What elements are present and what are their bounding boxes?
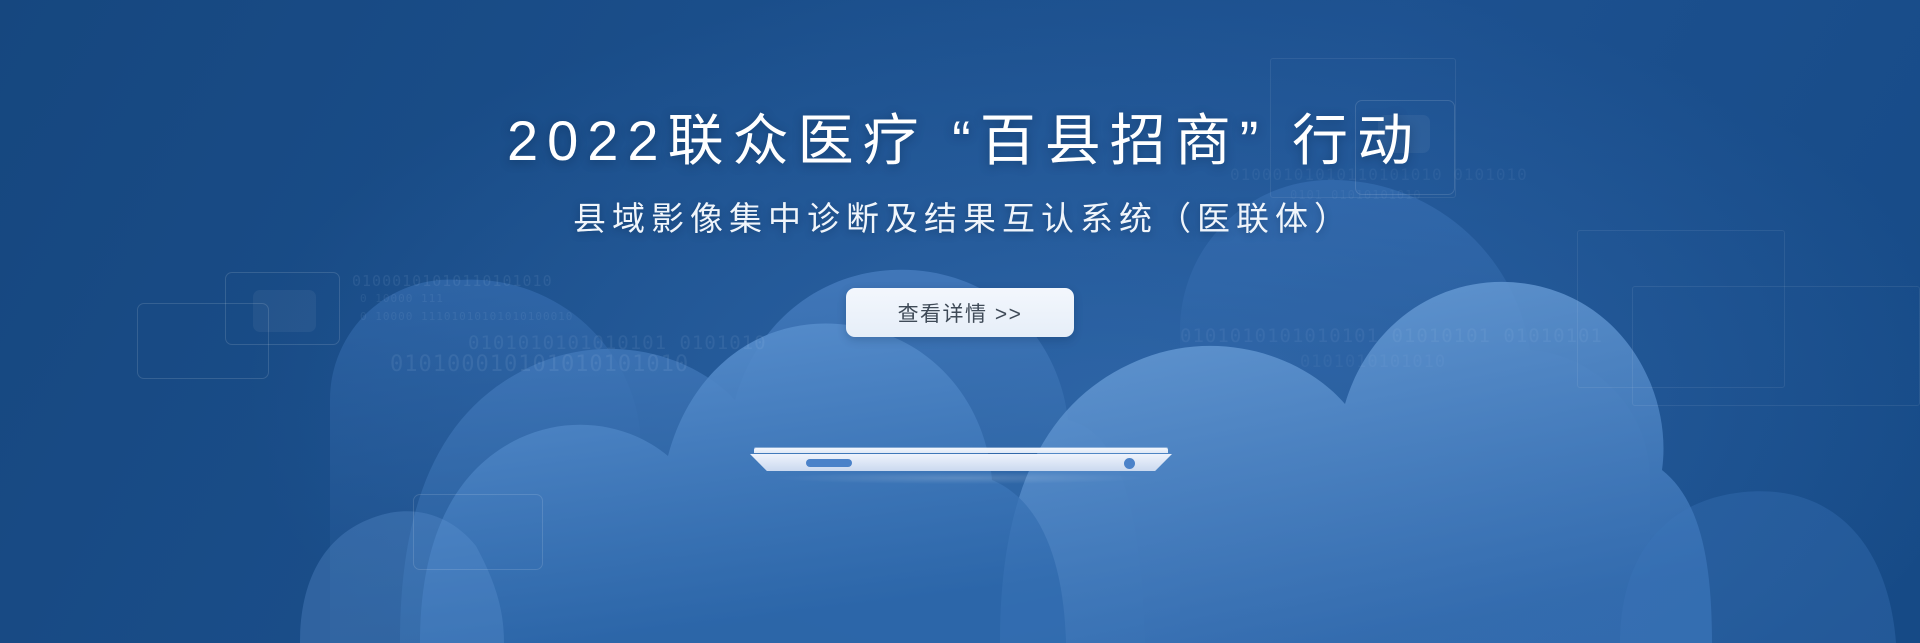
view-details-button[interactable]: 查看详情 >> <box>846 288 1074 337</box>
banner-content: 2022联众医疗 “百县招商” 行动 县域影像集中诊断及结果互认系统（医联体） … <box>0 0 1920 643</box>
banner-title: 2022联众医疗 “百县招商” 行动 <box>498 113 1422 169</box>
device-screen-edge <box>754 448 1168 453</box>
banner-subtitle: 县域影像集中诊断及结果互认系统（医联体） <box>567 202 1353 235</box>
laptop-device <box>750 448 1172 477</box>
camera-dot-icon <box>1124 458 1135 469</box>
device-shadow <box>776 472 1146 484</box>
speaker-grille-icon <box>806 459 852 467</box>
promo-banner: 01000101010110101010 0 10000 111 0 10000… <box>0 0 1920 643</box>
